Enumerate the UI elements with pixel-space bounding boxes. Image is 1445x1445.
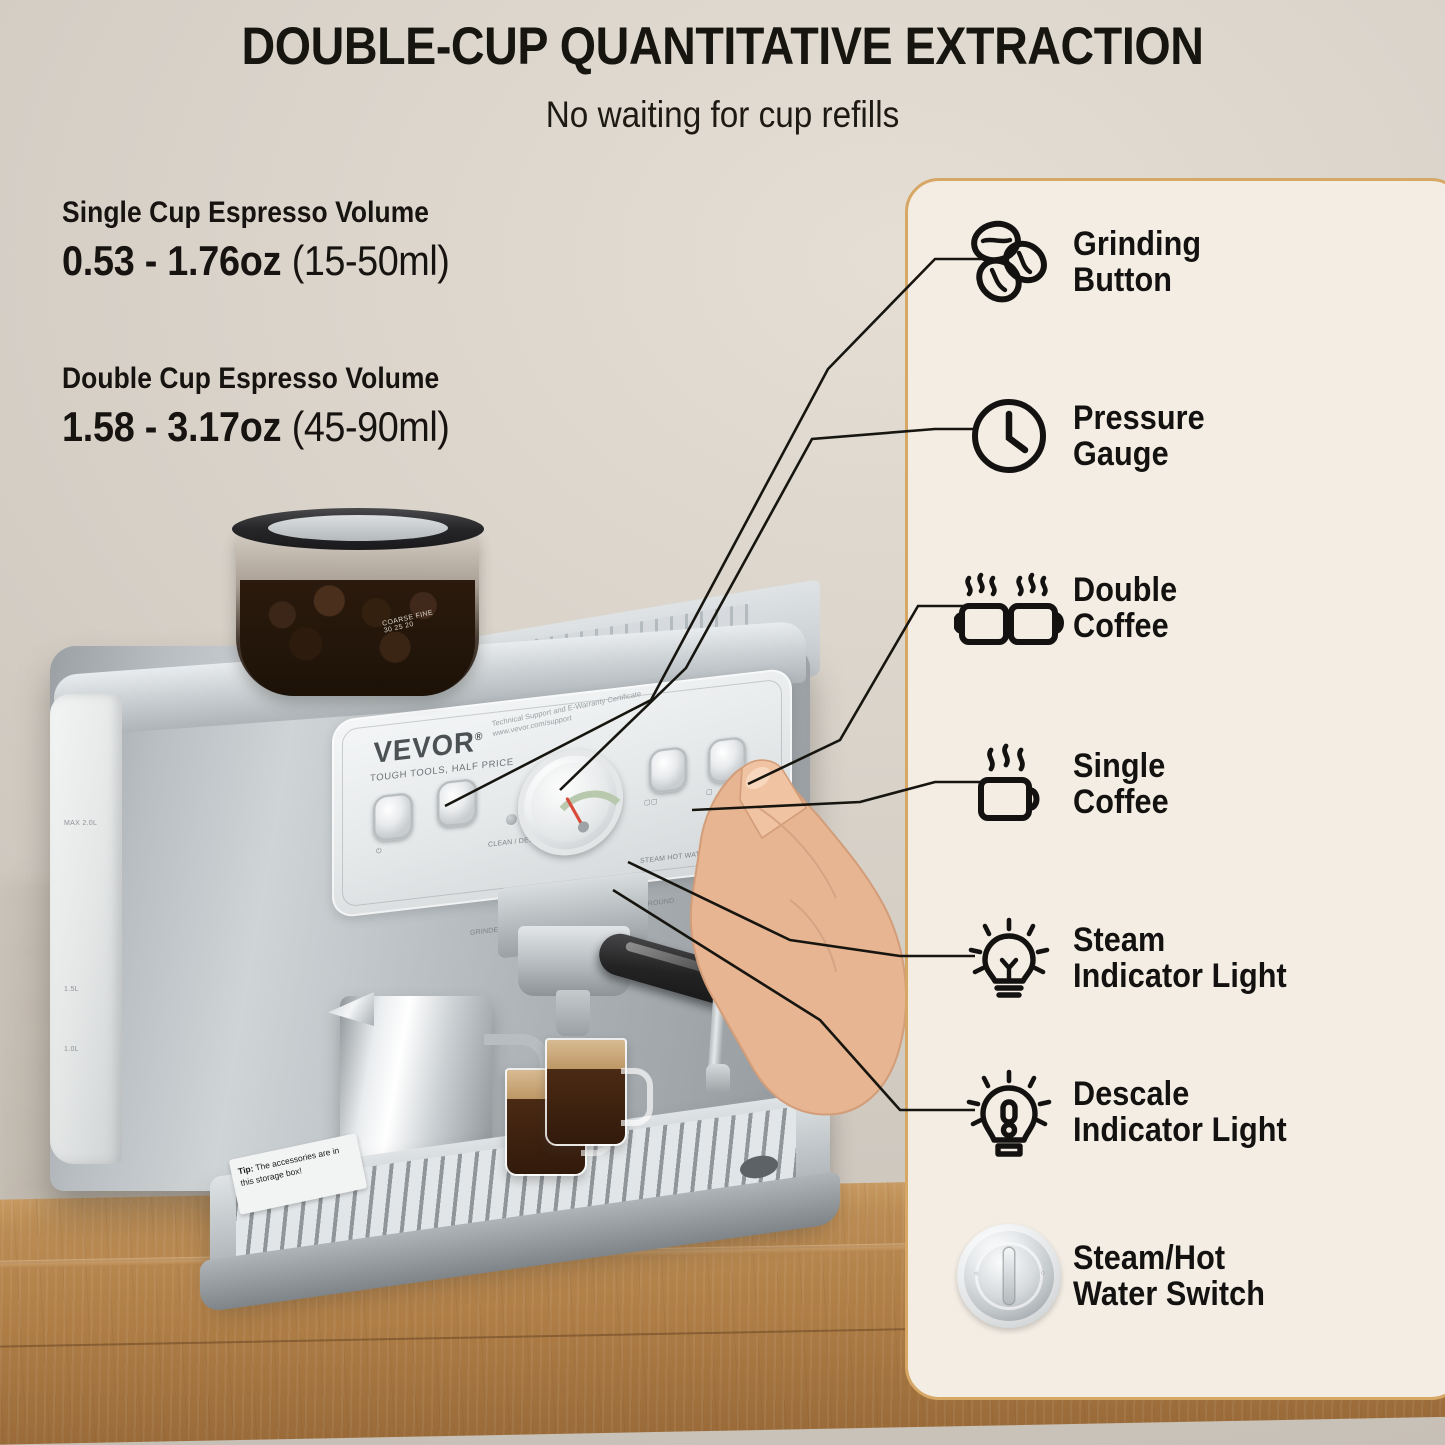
feature-label: Steam Indicator Light [1073, 922, 1287, 994]
double-cup-icon-label: ▢▢ [644, 797, 658, 807]
feature-steam-hot-water-switch[interactable]: ☼ ○ Steam/Hot Water Switch [945, 1216, 1286, 1336]
knob-water-tick: ○ [1041, 1270, 1045, 1277]
spec-single-cup: Single Cup Espresso Volume 0.53 - 1.76oz… [62, 196, 492, 285]
glass-handle [621, 1068, 653, 1126]
lightbulb-icon [945, 910, 1073, 1006]
feature-label: Single Coffee [1073, 748, 1169, 820]
registered-mark: ® [475, 731, 484, 744]
grinding-button[interactable] [437, 778, 477, 829]
crema-layer [547, 1040, 625, 1069]
coffee-beans [240, 580, 475, 696]
steam-knob-photo: ☼ ○ [945, 1224, 1073, 1328]
double-coffee-button[interactable] [649, 746, 687, 794]
feature-grinding-button[interactable]: Grinding Button [945, 208, 1215, 316]
spec-value-oz: 1.58 - 3.17oz [62, 403, 281, 450]
feature-label: Steam/Hot Water Switch [1073, 1240, 1265, 1312]
spec-label: Single Cup Espresso Volume [62, 196, 441, 230]
tank-mark: 1.5L [64, 986, 79, 993]
steam-wand-tip [706, 1064, 730, 1094]
gauge-face [531, 758, 610, 846]
single-cup-icon-label: ▢ [706, 788, 713, 797]
spec-value: 0.53 - 1.76oz (15-50ml) [62, 237, 449, 285]
tank-mark: MAX 2.0L [64, 820, 97, 827]
power-button[interactable] [373, 792, 413, 843]
feature-steam-indicator-light[interactable]: Steam Indicator Light [945, 902, 1311, 1014]
spec-double-cup: Double Cup Espresso Volume 1.58 - 3.17oz… [62, 362, 492, 451]
gauge-arc [547, 786, 633, 843]
bean-hopper-lid[interactable] [232, 508, 484, 550]
page-title: DOUBLE-CUP QUANTITATIVE EXTRACTION [87, 16, 1359, 77]
steam-knob-image: ☼ ○ [957, 1224, 1061, 1328]
feature-label: Grinding Button [1073, 226, 1201, 298]
spec-value-ml: (45-90ml) [292, 403, 450, 450]
page-subtitle: No waiting for cup refills [72, 94, 1373, 136]
feature-descale-indicator-light[interactable]: Descale Indicator Light [945, 1056, 1311, 1168]
spec-value: 1.58 - 3.17oz (45-90ml) [62, 403, 449, 451]
infographic-root: DOUBLE-CUP QUANTITATIVE EXTRACTION No wa… [0, 0, 1445, 1445]
portafilter-spout [556, 990, 590, 1036]
pressure-gauge-icon [945, 388, 1073, 484]
feature-label: Pressure Gauge [1073, 400, 1205, 472]
spec-label: Double Cup Espresso Volume [62, 362, 441, 396]
tank-mark: 1.0L [64, 1046, 79, 1053]
knob-pointer-slot [1004, 1248, 1014, 1304]
spec-value-oz: 0.53 - 1.76oz [62, 237, 281, 284]
feature-pressure-gauge[interactable]: Pressure Gauge [945, 382, 1219, 490]
water-tank: MAX 2.0L 1.5L 1.0L [50, 694, 122, 1164]
single-coffee-button[interactable] [708, 736, 746, 784]
knob-steam-tick: ☼ [973, 1270, 979, 1277]
feature-label: Descale Indicator Light [1073, 1076, 1287, 1148]
single-coffee-cup-icon [945, 736, 1073, 832]
power-icon-label: ⏻ [376, 848, 382, 857]
coffee-liquid [547, 1069, 625, 1144]
espresso-glass-back [545, 1038, 627, 1146]
feature-double-coffee[interactable]: Double Coffee [945, 552, 1189, 664]
double-coffee-cups-icon [945, 560, 1073, 656]
coffee-beans-icon [945, 214, 1073, 310]
feature-label: Double Coffee [1073, 572, 1177, 644]
spec-value-ml: (15-50ml) [292, 237, 450, 284]
feature-single-coffee[interactable]: Single Coffee [945, 728, 1179, 840]
lightbulb-alert-icon [945, 1064, 1073, 1160]
